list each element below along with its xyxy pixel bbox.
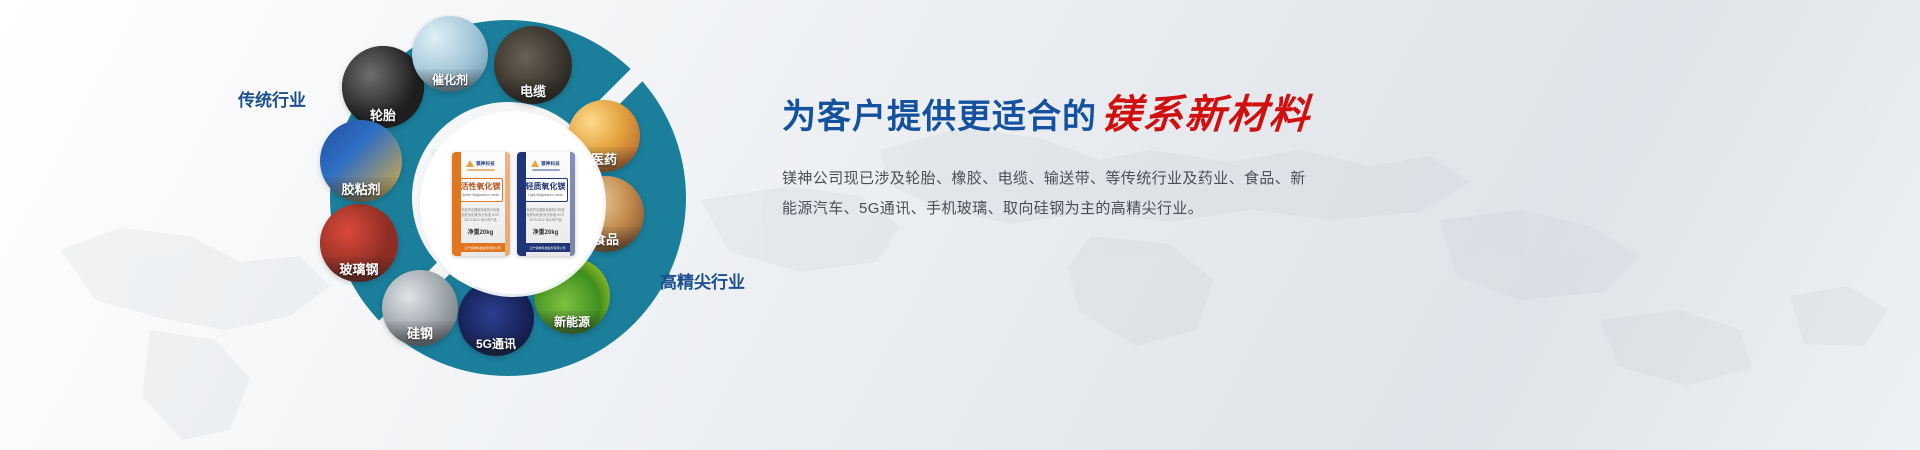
headline: 为客户提供更适合的 镁系新材料 [782, 96, 1502, 134]
bag-net-label: 净重 [533, 230, 545, 236]
bubble-label: 5G通讯 [458, 333, 534, 356]
body-line-1: 镁神公司现已涉及轮胎、橡胶、电缆、输送带、等传统行业及药业、食品、新 [782, 164, 1502, 194]
industry-bubble-cable[interactable]: 电缆 [494, 26, 572, 104]
bubble-label: 新能源 [534, 311, 610, 334]
bubble-label: 催化剂 [412, 69, 488, 92]
bubble-label: 电缆 [494, 79, 572, 104]
bag-net-value: 20kg [545, 230, 559, 236]
bag-name-box: 轻质氧化镁 Light Magnesium oxide [524, 178, 568, 202]
bubble-label: 玻璃钢 [320, 257, 398, 282]
bag-spec-text: 本品符合国家标准执行标准 活性氧化镁 执行标准 HG/T 2573-2012 本… [460, 208, 502, 222]
bag-spine-right [505, 152, 510, 256]
bag-decor-bar [467, 169, 495, 171]
bag-brand: 镁神科技 [531, 160, 560, 167]
bag-name-box: 活性氧化镁 Active Magnesium oxide [459, 178, 503, 202]
bag-footer-strip: 辽宁镁神科技股份有限公司 [526, 243, 570, 252]
bag-brand-label: 镁神科技 [476, 161, 495, 167]
section-label-traditional: 传统行业 [238, 86, 306, 111]
bag-name-cn: 轻质氧化镁 [525, 183, 567, 191]
brand-logo-icon [531, 160, 539, 167]
bag-company-footer: 辽宁镁神科技股份有限公司 [464, 246, 500, 250]
headline-red-text: 镁系新材料 [1100, 96, 1313, 134]
product-bag-light-mgo: 镁神科技 轻质氧化镁 Light Magnesium oxide 本品符合国家标… [517, 152, 575, 256]
industry-bubble-catalyst[interactable]: 催化剂 [412, 16, 488, 92]
product-bag-active-mgo: 镁神科技 活性氧化镁 Active Magnesium oxide 本品符合国家… [452, 152, 510, 256]
bag-footer-strip: 辽宁镁神科技股份有限公司 [461, 243, 505, 252]
section-label-advanced: 高精尖行业 [660, 268, 745, 293]
world-map-watermark [0, 0, 1920, 450]
copy-block: 为客户提供更适合的 镁系新材料 镁神公司现已涉及轮胎、橡胶、电缆、输送带、等传统… [782, 96, 1502, 224]
bag-name-cn: 活性氧化镁 [460, 183, 502, 191]
brand-logo-icon [466, 160, 474, 167]
body-line-2: 能源汽车、5G通讯、手机玻璃、取向硅钢为主的高精尖行业。 [782, 194, 1502, 224]
bag-spine-right [570, 152, 575, 256]
industry-bubble-frp[interactable]: 玻璃钢 [320, 204, 398, 282]
bubble-label: 胶粘剂 [320, 177, 402, 202]
bubble-label: 硅钢 [382, 321, 458, 346]
bag-decor-bar [532, 169, 560, 171]
body-copy: 镁神公司现已涉及轮胎、橡胶、电缆、输送带、等传统行业及药业、食品、新 能源汽车、… [782, 164, 1502, 224]
center-product-disc: 镁神科技 活性氧化镁 Active Magnesium oxide 本品符合国家… [423, 114, 603, 294]
bag-spine-left [452, 152, 461, 256]
bag-net-weight: 净重20kg [533, 227, 559, 236]
bag-net-weight: 净重20kg [468, 227, 494, 236]
bag-name-en: Active Magnesium oxide [460, 193, 502, 197]
banner-root: 镁神科技 活性氧化镁 Active Magnesium oxide 本品符合国家… [0, 0, 1920, 450]
bag-brand-label: 镁神科技 [541, 161, 560, 167]
bag-net-value: 20kg [480, 230, 494, 236]
industry-wheel: 镁神科技 活性氧化镁 Active Magnesium oxide 本品符合国家… [318, 8, 758, 448]
bag-company-footer: 辽宁镁神科技股份有限公司 [529, 246, 565, 250]
bag-brand: 镁神科技 [466, 160, 495, 167]
headline-blue-text: 为客户提供更适合的 [782, 100, 1097, 134]
industry-bubble-adhesive[interactable]: 胶粘剂 [320, 120, 402, 202]
bag-net-label: 净重 [468, 230, 480, 236]
bag-spine-left [517, 152, 526, 256]
bag-spec-text: 本品符合国家标准执行标准 轻质氧化镁 执行标准 HG/T 2573-2012 本… [525, 208, 567, 222]
bag-name-en: Light Magnesium oxide [525, 193, 567, 197]
